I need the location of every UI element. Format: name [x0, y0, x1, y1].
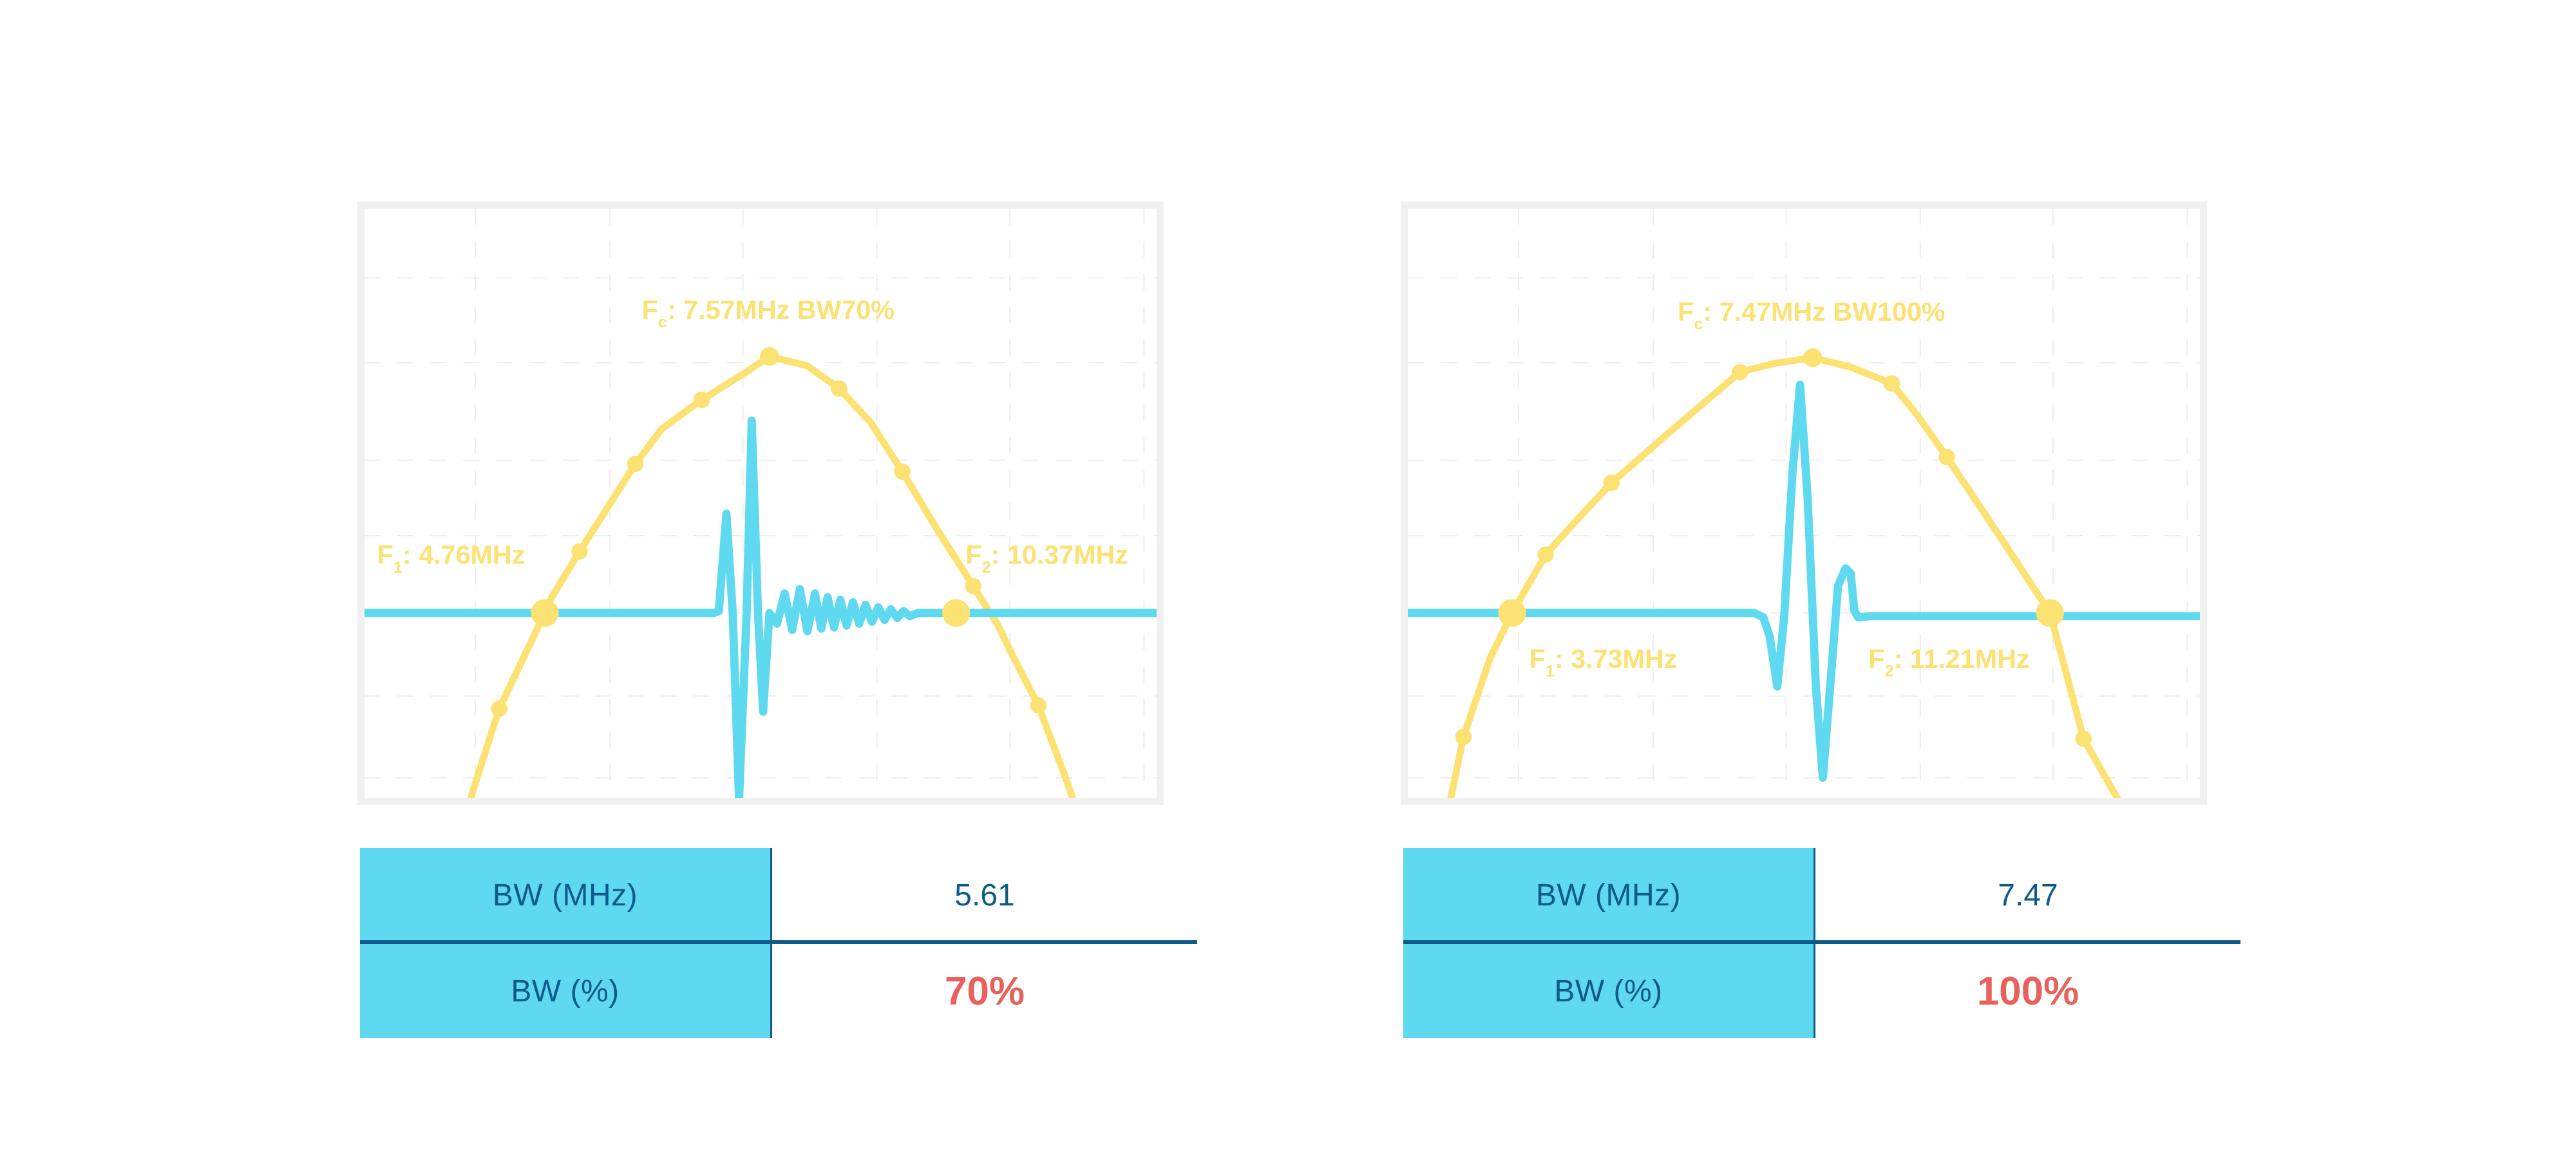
bw-table-right: BW (MHz) 7.47 BW (%) 100% — [1403, 848, 2240, 1038]
label-center-frequency: Fc: 7.57MHz BW70% — [642, 295, 895, 332]
spectrum-chart-left: Fc: 7.57MHz BW70% F1: 4.76MHz F2: 10.37M… — [365, 209, 1157, 798]
bw-mhz-label-cell: BW (MHz) — [1403, 848, 1815, 942]
bw-pct-value: 70% — [945, 969, 1025, 1014]
label-f1: F1: 4.76MHz — [377, 540, 526, 577]
label-f1-sub: 1 — [393, 558, 402, 576]
label-f2-prefix: F — [965, 540, 981, 570]
marker-f2 — [942, 599, 970, 627]
spectrum-data-points — [491, 347, 1108, 798]
spectrum-chart-right: Fc: 7.47MHz BW100% F1: 3.73MHz F2: 11.21… — [1408, 209, 2200, 798]
bw-pct-label-cell: BW (%) — [360, 944, 772, 1038]
label-f1-sub: 1 — [1546, 663, 1555, 681]
bw-mhz-label: BW (MHz) — [1536, 878, 1681, 913]
bw-mhz-value: 5.61 — [954, 878, 1014, 913]
chart-panel-right: Fc: 7.47MHz BW100% F1: 3.73MHz F2: 11.21… — [1401, 202, 2207, 805]
label-f2-sub: 2 — [1884, 663, 1893, 681]
marker-f1 — [1498, 599, 1526, 627]
chart-plot-area-left: Fc: 7.57MHz BW70% F1: 4.76MHz F2: 10.37M… — [365, 209, 1157, 798]
label-f2: F2: 11.21MHz — [1868, 644, 2029, 681]
panel-right: Fc: 7.47MHz BW100% F1: 3.73MHz F2: 11.21… — [1043, 0, 2331, 1154]
label-center-frequency: Fc: 7.47MHz BW100% — [1678, 297, 1945, 334]
label-f1-text: : 4.76MHz — [402, 540, 525, 570]
table-row: BW (%) 100% — [1403, 944, 2240, 1038]
label-f2-text: : 11.21MHz — [1894, 644, 2030, 674]
chart-plot-area-right: Fc: 7.47MHz BW100% F1: 3.73MHz F2: 11.21… — [1408, 209, 2200, 798]
echo-pulse-waveform — [365, 421, 1157, 798]
bw-mhz-label-cell: BW (MHz) — [360, 848, 772, 942]
bw-mhz-value: 7.47 — [1998, 878, 2058, 913]
label-f1: F1: 3.73MHz — [1529, 644, 1678, 681]
label-f1-prefix: F — [1529, 644, 1546, 674]
bw-pct-label: BW (%) — [1554, 974, 1662, 1009]
label-f1-text: : 3.73MHz — [1555, 644, 1677, 674]
label-center-prefix: F — [642, 295, 658, 325]
figure-root: Fc: 7.57MHz BW70% F1: 4.76MHz F2: 10.37M… — [0, 0, 2576, 1154]
bw-pct-value-cell: 100% — [1815, 944, 2240, 1038]
label-center-sub: c — [658, 314, 667, 332]
marker-f1 — [531, 599, 558, 627]
label-f2-sub: 2 — [982, 558, 991, 576]
label-f1-prefix: F — [377, 540, 393, 570]
label-center-prefix: F — [1678, 297, 1694, 326]
table-row: BW (MHz) 7.47 — [1403, 848, 2240, 942]
bw-pct-label-cell: BW (%) — [1403, 944, 1815, 1038]
spectrum-curve — [462, 356, 1114, 798]
label-f2-prefix: F — [1868, 644, 1884, 674]
bw-mhz-label: BW (MHz) — [493, 878, 638, 913]
label-center-text: : 7.57MHz BW70% — [667, 295, 895, 325]
label-center-sub: c — [1694, 316, 1703, 334]
label-center-text: : 7.47MHz BW100% — [1703, 297, 1946, 326]
bw-pct-label: BW (%) — [511, 974, 619, 1009]
bw-pct-value: 100% — [1977, 969, 2079, 1014]
bw-mhz-value-cell: 7.47 — [1815, 848, 2240, 942]
marker-f2 — [2036, 599, 2064, 627]
